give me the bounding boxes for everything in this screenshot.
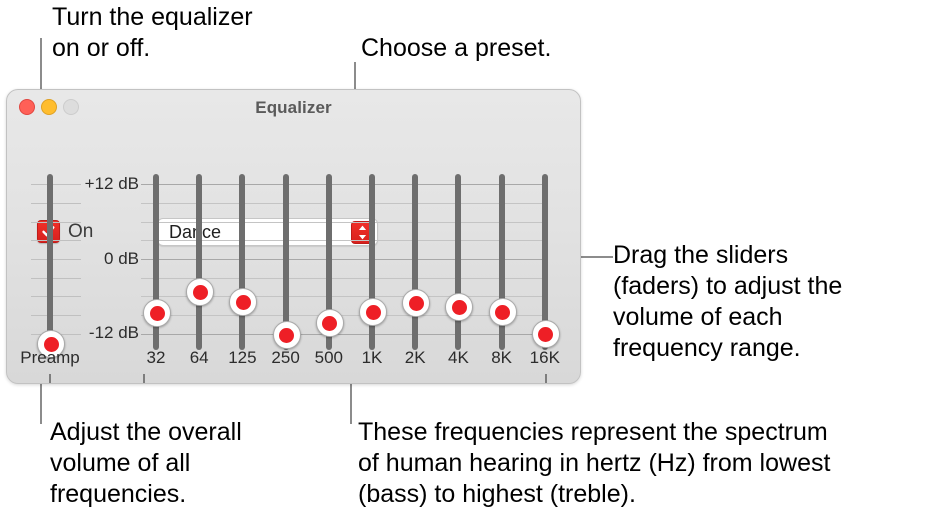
callout-frequencies: These frequencies represent the spectrum… (358, 417, 928, 510)
band-label: 32 (132, 348, 180, 368)
band-thumb[interactable] (359, 298, 387, 326)
band-label: 16K (521, 348, 569, 368)
band-thumb[interactable] (143, 299, 171, 327)
band-thumb[interactable] (445, 293, 473, 321)
preamp-track[interactable] (47, 174, 53, 350)
preamp-bracket (49, 374, 51, 384)
equalizer-window: Equalizer On Dance +12 dB 0 dB - (6, 89, 581, 384)
preamp-label: Preamp (14, 348, 86, 368)
band-thumb[interactable] (229, 288, 257, 316)
band-label: 500 (305, 348, 353, 368)
band-label: 4K (434, 348, 482, 368)
band-label: 250 (262, 348, 310, 368)
band-thumb[interactable] (532, 320, 560, 348)
callout-equalizer-toggle: Turn the equalizer on or off. (52, 2, 352, 64)
band-thumb[interactable] (316, 309, 344, 337)
leader-line-frequencies (350, 384, 352, 424)
db-scale-label-bottom: -12 dB (69, 323, 139, 343)
band-label: 64 (175, 348, 223, 368)
frequency-range-bracket (143, 374, 547, 384)
band-track[interactable] (239, 174, 245, 350)
band-track[interactable] (412, 174, 418, 350)
band-label: 8K (478, 348, 526, 368)
band-thumb[interactable] (273, 321, 301, 349)
preamp-tick (56, 315, 81, 316)
leader-line-preamp (40, 384, 42, 424)
band-thumb[interactable] (489, 298, 517, 326)
band-label: 2K (391, 348, 439, 368)
preamp-tick (56, 222, 81, 223)
band-label: 1K (348, 348, 396, 368)
band-track[interactable] (196, 174, 202, 350)
callout-preamp: Adjust the overall volume of all frequen… (50, 417, 310, 510)
band-track[interactable] (455, 174, 461, 350)
preamp-tick (56, 203, 81, 204)
band-thumb[interactable] (402, 289, 430, 317)
preamp-tick (56, 278, 81, 279)
band-thumb[interactable] (186, 278, 214, 306)
equalizer-sliders-area: +12 dB 0 dB -12 dB Preamp (7, 90, 580, 383)
callout-sliders: Drag the sliders (faders) to adjust the … (613, 240, 923, 364)
preamp-tick (56, 296, 81, 297)
callout-preset: Choose a preset. (361, 33, 621, 64)
preamp-tick (56, 184, 81, 185)
band-label: 125 (218, 348, 266, 368)
preamp-tick (56, 259, 81, 260)
preamp-tick (56, 240, 81, 241)
